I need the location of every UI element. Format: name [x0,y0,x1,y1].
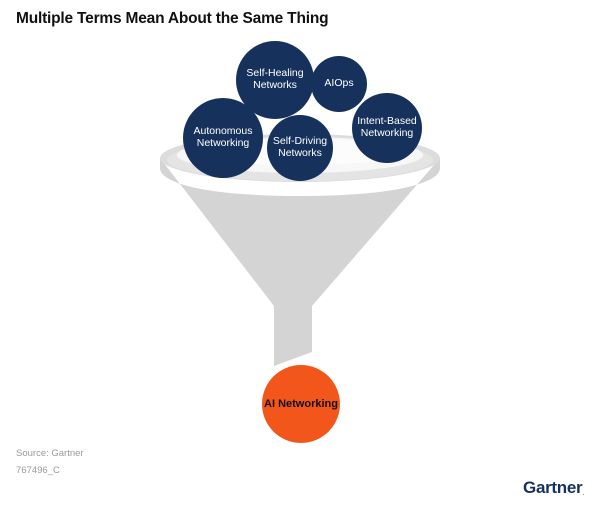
bubble-label: Self-Healing Networks [238,68,312,92]
document-id: 767496_C [16,463,84,480]
bubble-label: Intent-Based Networking [354,116,420,140]
bubble-ai-networking[interactable]: AI Networking [262,365,340,443]
bubble-label: Autonomous Networking [185,126,261,150]
bubble-aiops[interactable]: AIOps [311,56,367,112]
registered-mark-icon: . [582,490,584,497]
source-block: Source: Gartner 767496_C [16,446,84,479]
bubble-intent-based-networking[interactable]: Intent-Based Networking [352,93,422,163]
gartner-logo: Gartner. [523,478,584,498]
bubble-label: Self-Driving Networks [269,136,331,160]
source-line: Source: Gartner [16,446,84,463]
chart-canvas: Multiple Terms Mean About the Same Thing… [0,0,600,508]
bubble-output-label: AI Networking [262,398,340,411]
logo-wordmark: Gartner [523,478,582,497]
bubble-autonomous-networking[interactable]: Autonomous Networking [183,98,263,178]
bubble-label: AIOps [313,78,365,90]
bubble-self-driving-networks[interactable]: Self-Driving Networks [267,115,333,181]
funnel-neck [274,300,312,366]
funnel-diagram: Self-Healing Networks AIOps Autonomous N… [0,0,600,460]
